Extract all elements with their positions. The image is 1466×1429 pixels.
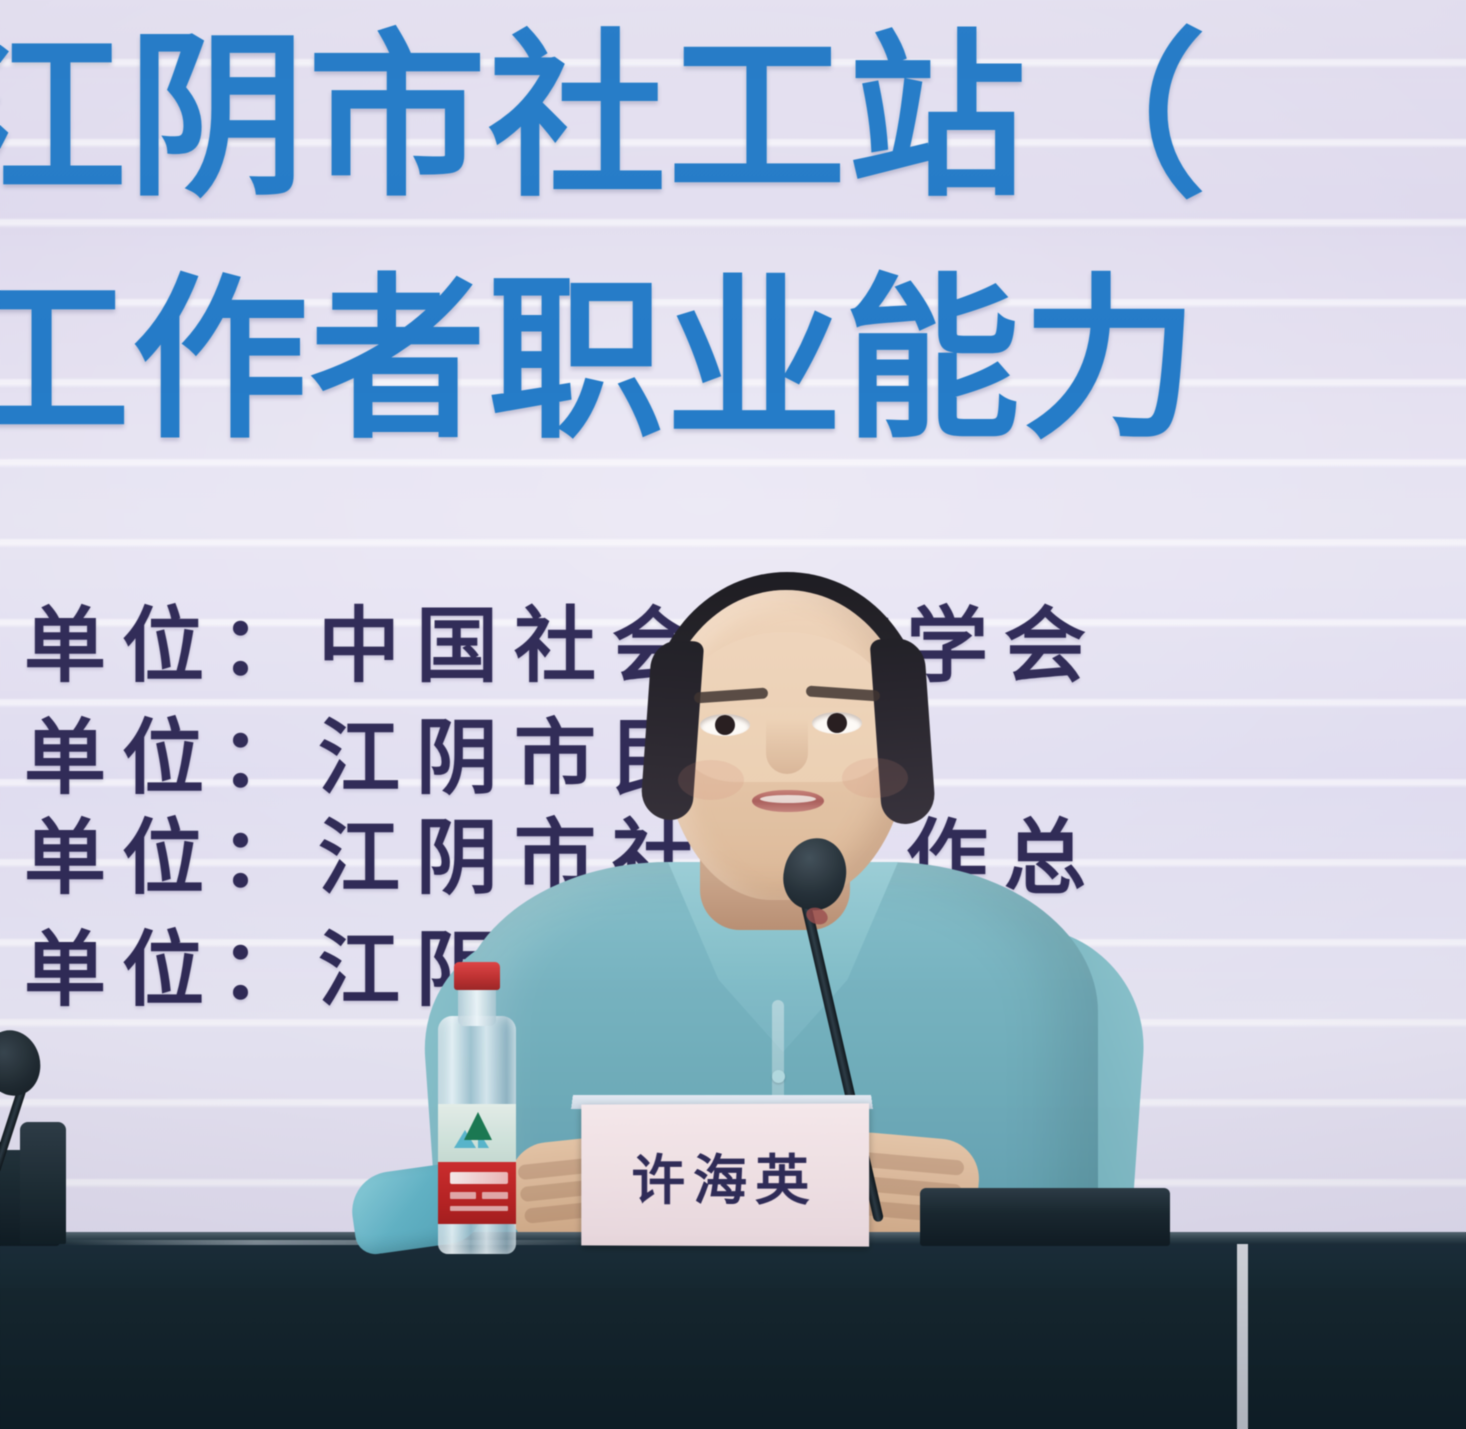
desk-panel-seam <box>1237 1244 1248 1429</box>
pupil-right <box>827 713 847 733</box>
nose <box>766 718 808 774</box>
mic-left-base <box>20 1122 66 1244</box>
bottle-sub-text <box>450 1192 476 1199</box>
blouse-button <box>772 1070 785 1083</box>
mouth-opening <box>760 795 816 803</box>
bottle-cap <box>454 962 500 990</box>
photograph-scene: 江阴市社工站（ 工作者职业能力 单位：中国社会工作学会 单位：江阴市民政局 单位… <box>0 0 1466 1429</box>
bottle-fine-print <box>450 1206 508 1211</box>
eye-right <box>812 712 862 734</box>
desk-highlight <box>60 1240 620 1245</box>
bottle-label-lower <box>438 1162 516 1224</box>
banner-headline-line-2: 工作者职业能力 <box>0 262 1200 460</box>
placard-name-text: 许海英 <box>581 1103 869 1246</box>
eye-left <box>700 714 750 736</box>
conference-mic-base[interactable] <box>920 1188 1170 1246</box>
water-bottle <box>434 962 520 1254</box>
pupil-left <box>715 715 735 735</box>
cheek-left <box>678 760 744 800</box>
bottle-sub-text <box>482 1192 508 1199</box>
banner-headline-line-1: 江阴市社工站（ <box>0 18 1208 218</box>
name-placard: 许海英 <box>581 1103 869 1246</box>
banner-unit-line-1: 单位：中国社会工作学会 <box>24 600 1102 692</box>
cheek-right <box>842 758 908 798</box>
bottle-logo-mountain-icon <box>464 1112 492 1140</box>
bottle-brand-text <box>450 1172 508 1184</box>
